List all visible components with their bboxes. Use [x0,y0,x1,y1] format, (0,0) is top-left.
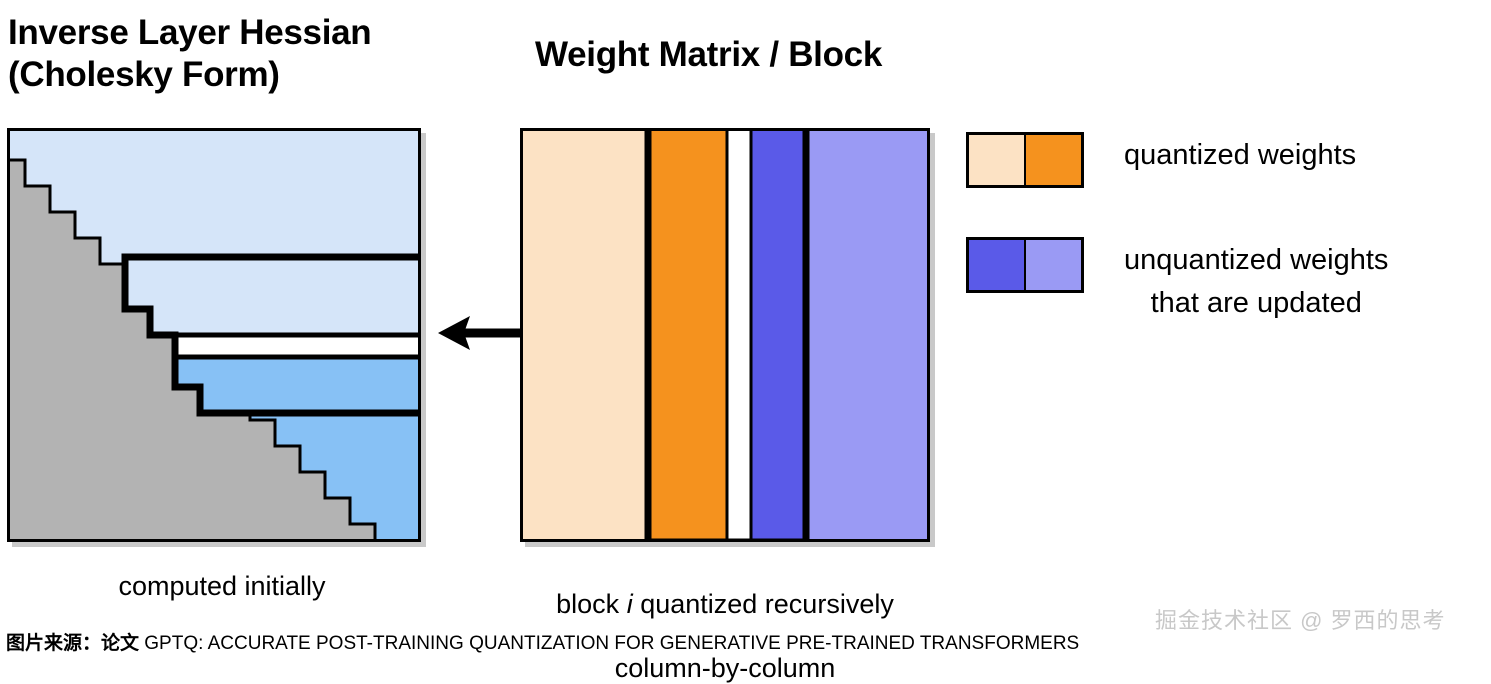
legend-label-unquantized: unquantized weights that are updated [1124,237,1388,325]
page-title-weight-matrix: Weight Matrix / Block [535,34,882,76]
band-block-unquantized-updated [751,128,803,542]
caption-weight-line2: column-by-column [615,653,836,683]
caption-computed-initially: computed initially [7,570,437,602]
legend-item-unquantized: unquantized weights that are updated [966,237,1388,325]
legend-label-quantized: quantized weights [1124,132,1356,177]
inverse-hessian-diagram [7,128,421,542]
hessian-staircase-svg [7,128,421,542]
band-block-quantized-current [649,128,727,542]
weight-matrix-svg [520,128,930,542]
band-unquantized-remaining [803,128,930,542]
weight-matrix-diagram [520,128,930,542]
hessian-block-upper-light [125,257,421,335]
caption-block-quantized: block i quantized recursively column-by-… [500,556,950,684]
legend-swatch-quantized [966,132,1084,188]
hessian-block-medium-band [175,357,421,413]
page-title-hessian: Inverse Layer Hessian (Cholesky Form) [8,12,371,96]
source-paper-title: GPTQ: ACCURATE POST-TRAINING QUANTIZATIO… [144,633,1079,654]
diagram-canvas: Inverse Layer Hessian (Cholesky Form) We… [0,0,1491,663]
source-attribution: 图片来源：论文 GPTQ: ACCURATE POST-TRAINING QUA… [6,632,1079,656]
watermark: 掘金技术社区 @ 罗西的思考 [1155,608,1446,634]
hessian-block-white-band [150,335,421,357]
legend-swatch-unquantized-light [1024,240,1081,290]
legend-item-quantized: quantized weights [966,132,1356,188]
caption-weight-line1-post: quantized recursively [633,589,894,619]
legend-swatch-quantized-dark [1024,135,1081,185]
legend-swatch-unquantized-dark [969,240,1024,290]
source-prefix: 图片来源：论文 [6,633,144,654]
band-quantized-done [520,128,649,542]
band-block-current-column [727,128,751,542]
legend-swatch-quantized-light [969,135,1024,185]
legend-swatch-unquantized [966,237,1084,293]
caption-weight-line1-pre: block [556,589,627,619]
